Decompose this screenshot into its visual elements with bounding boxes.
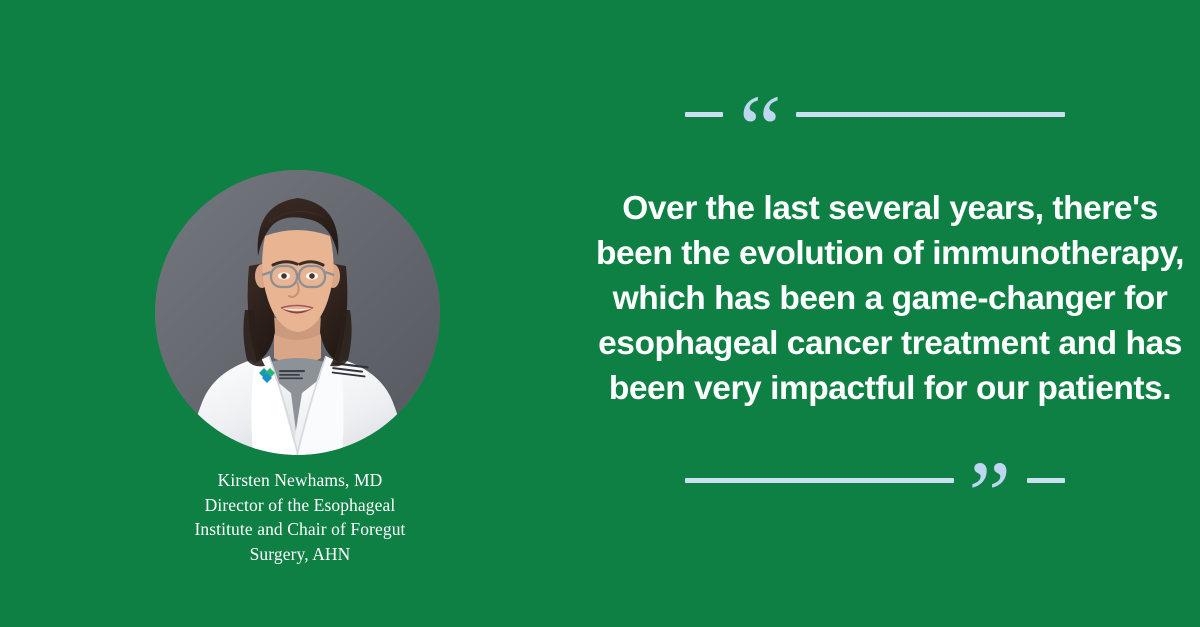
- quote-ornament-top: “: [685, 112, 1065, 117]
- quote-line: been the evolution of immunotherapy,: [590, 231, 1190, 276]
- quote-line: Over the last several years, there's: [590, 186, 1190, 231]
- attribution-line: Institute and Chair of Foregut: [130, 517, 470, 542]
- portrait-photo: [155, 170, 440, 455]
- quote-line: which has been a game-changer for: [590, 276, 1190, 321]
- quote-ornament-bottom: ”: [685, 478, 1065, 483]
- attribution-line: Kirsten Newhams, MD: [130, 468, 470, 493]
- quote-line: been very impactful for our patients.: [590, 366, 1190, 411]
- rule-long: [685, 478, 954, 483]
- attribution: Kirsten Newhams, MD Director of the Esop…: [130, 468, 470, 566]
- quote-text: Over the last several years, there's bee…: [590, 186, 1190, 411]
- quote-column: “ Over the last several years, there's b…: [580, 0, 1200, 627]
- attribution-line: Surgery, AHN: [130, 542, 470, 567]
- portrait-column: Kirsten Newhams, MD Director of the Esop…: [0, 0, 600, 627]
- avatar: [155, 170, 440, 455]
- quote-line: esophageal cancer treatment and has: [590, 321, 1190, 366]
- rule-short: [1027, 478, 1065, 483]
- quote-card: Kirsten Newhams, MD Director of the Esop…: [0, 0, 1200, 627]
- rule-short: [685, 112, 723, 117]
- rule-long: [796, 112, 1065, 117]
- attribution-line: Director of the Esophageal: [130, 493, 470, 518]
